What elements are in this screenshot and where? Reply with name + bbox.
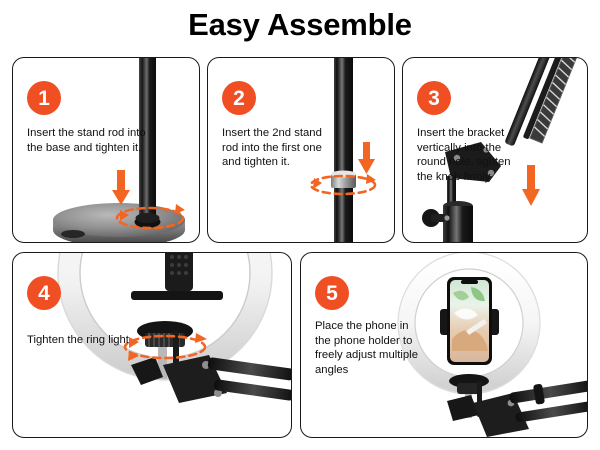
down-arrow — [112, 170, 130, 205]
step-badge-1: 1 — [27, 81, 61, 115]
step-badge-4: 4 — [27, 276, 61, 310]
step-caption-3: Insert the bracket vertically into the r… — [417, 126, 569, 184]
step-caption-5: Place the phone in the phone holder to f… — [315, 319, 467, 377]
step-panel-5: 5 Place the phone in the phone holder to… — [300, 252, 588, 438]
step-badge-2: 2 — [222, 81, 256, 115]
rotation-arrows — [311, 176, 375, 194]
page-title: Easy Assemble — [0, 6, 600, 44]
rotation-arrows — [117, 208, 183, 228]
step-panel-1: 1 Insert the stand rod into the base and… — [12, 57, 200, 243]
step-caption-4: Tighten the ring light — [27, 333, 187, 348]
step-caption-1: Insert the stand rod into the base and t… — [27, 126, 179, 155]
step-panel-3: 3 Insert the bracket vertically into the… — [402, 57, 588, 243]
step-panel-4: 4 Tighten the ring light — [12, 252, 292, 438]
step-caption-2: Insert the 2nd stand rod into the first … — [222, 126, 374, 170]
step-badge-5: 5 — [315, 276, 349, 310]
step-panel-2: 2 Insert the 2nd stand rod into the firs… — [207, 57, 395, 243]
step-badge-3: 3 — [417, 81, 451, 115]
